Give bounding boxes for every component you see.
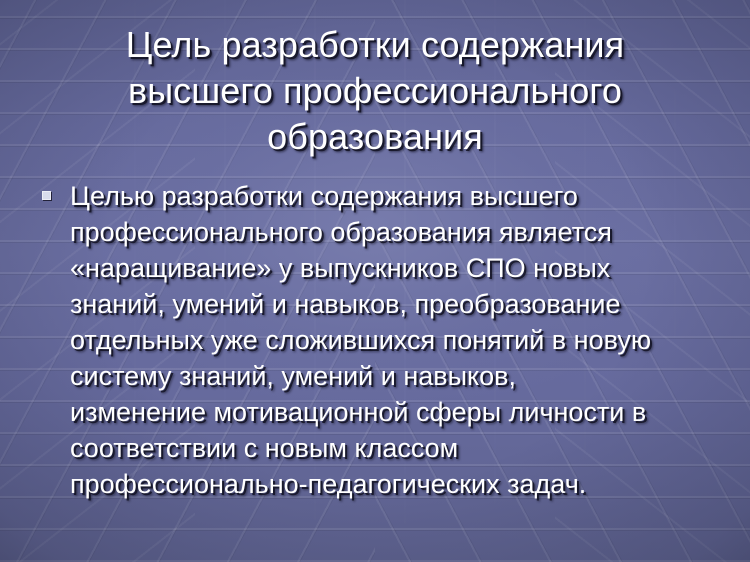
slide-title-line-3: образования: [36, 114, 714, 160]
slide-title-line-1: Цель разработки содержания: [36, 22, 714, 68]
bullet-item-text: Целью разработки содержания высшего проф…: [70, 178, 651, 502]
square-bullet-icon: [42, 191, 51, 200]
slide-title: Цель разработки содержания высшего профе…: [36, 22, 714, 160]
slide-body: Целью разработки содержания высшего проф…: [36, 178, 728, 502]
presentation-slide: Цель разработки содержания высшего профе…: [0, 0, 750, 562]
slide-title-line-2: высшего профессионального: [36, 68, 714, 114]
slide-content: Цель разработки содержания высшего профе…: [0, 0, 750, 562]
